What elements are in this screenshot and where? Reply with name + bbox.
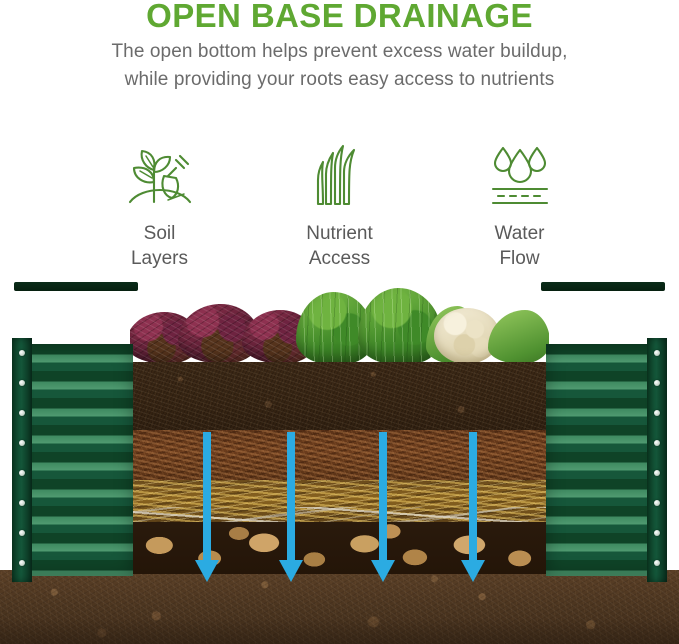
feature-label-line-2: Flow (495, 246, 545, 271)
subtitle-line-1: The open bottom helps prevent excess wat… (0, 38, 679, 66)
infographic-page: OPEN BASE DRAINAGE The open bottom helps… (0, 0, 679, 644)
plant-with-trowel-icon (124, 140, 196, 212)
bolt (654, 380, 660, 386)
bolt (654, 410, 660, 416)
soil-layer-wood-logs (130, 522, 549, 574)
feature-label-line-1: Soil (131, 221, 188, 246)
page-title: OPEN BASE DRAINAGE (0, 0, 679, 34)
bed-corner-post-left (12, 338, 32, 582)
feature-water-flow-label: Water Flow (495, 221, 545, 271)
grass-blades-icon (304, 140, 376, 212)
bed-rim-left (14, 282, 138, 291)
soil-layer-shredded-mulch (130, 430, 549, 480)
cauliflower-leaf (488, 310, 549, 364)
bolt (19, 530, 25, 536)
feature-nutrient-access: Nutrient Access (250, 140, 430, 271)
bed-rim-right (541, 282, 665, 291)
feature-label-line-1: Water (495, 221, 545, 246)
feature-label-line-1: Nutrient (306, 221, 373, 246)
bolt (19, 560, 25, 566)
ground-soil-layer (0, 570, 679, 644)
bolt (19, 440, 25, 446)
bolt (654, 530, 660, 536)
page-subtitle: The open bottom helps prevent excess wat… (0, 38, 679, 94)
bolt (19, 350, 25, 356)
bolt (654, 470, 660, 476)
feature-label-line-2: Layers (131, 246, 188, 271)
feature-nutrient-access-label: Nutrient Access (306, 221, 373, 271)
bolt (19, 470, 25, 476)
feature-label-line-2: Access (306, 246, 373, 271)
bed-corner-post-right (647, 338, 667, 582)
feature-row: Soil Layers Nutrient Access (0, 140, 679, 280)
bolt (654, 440, 660, 446)
bolt (654, 350, 660, 356)
bolt (19, 410, 25, 416)
bolt (19, 500, 25, 506)
soil-layer-stack (130, 362, 549, 574)
subtitle-line-2: while providing your roots easy access t… (0, 66, 679, 94)
product-photo (0, 282, 679, 644)
bolt (19, 380, 25, 386)
feature-soil-layers: Soil Layers (70, 140, 250, 271)
plants-group (130, 286, 549, 364)
water-droplets-over-lines-icon (484, 140, 556, 212)
bolt (654, 560, 660, 566)
feature-soil-layers-label: Soil Layers (131, 221, 188, 271)
feature-water-flow: Water Flow (430, 140, 610, 271)
soil-layer-topsoil-compost (130, 362, 549, 430)
bolt (654, 500, 660, 506)
